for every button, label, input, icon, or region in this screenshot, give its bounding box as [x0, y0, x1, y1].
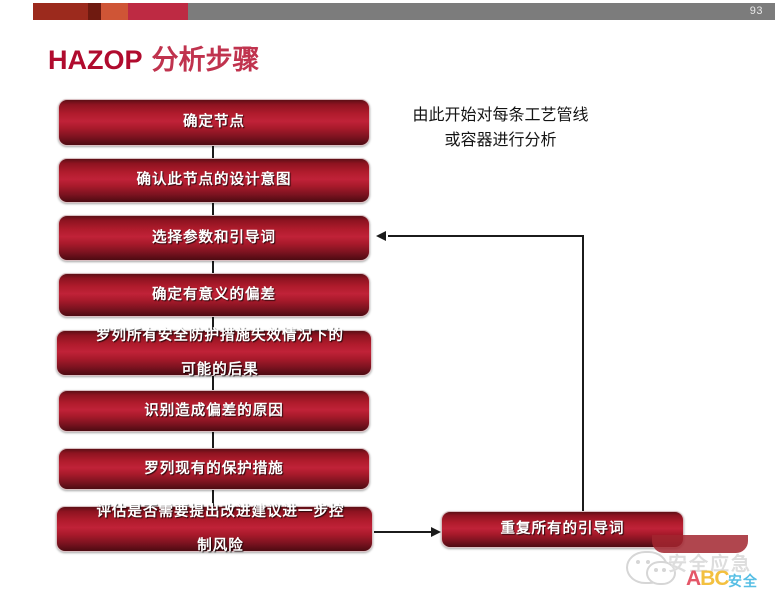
banner-band-2 — [88, 3, 101, 20]
connector-feedback-to-step3 — [388, 235, 584, 237]
watermark-suffix: 安全 — [728, 571, 758, 591]
watermark-letter-b: B — [700, 567, 714, 590]
arrow-into-feedback-icon — [431, 527, 441, 537]
flow-step-8[interactable]: 评估是否需要提出改进建议进一步控 制风险 — [56, 506, 373, 552]
flow-step-5-line-1: 罗列所有安全防护措施失效情况下的 — [63, 328, 377, 345]
flow-step-5[interactable]: 罗列所有安全防护措施失效情况下的 可能的后果 — [56, 330, 372, 376]
flow-step-7-label: 罗列现有的保护措施 — [59, 461, 369, 478]
flow-step-7[interactable]: 罗列现有的保护措施 — [58, 448, 370, 490]
arrow-into-step3-icon — [376, 231, 386, 241]
banner-band-1 — [33, 3, 88, 20]
top-banner: 93 — [0, 3, 775, 20]
wechat-dot-1-icon — [636, 560, 640, 564]
wechat-dot-2-icon — [646, 560, 650, 564]
start-annotation-line-2: 或容器进行分析 — [378, 127, 623, 152]
banner-band-5 — [188, 3, 775, 20]
flow-step-3-label: 选择参数和引导词 — [59, 230, 369, 247]
start-annotation: 由此开始对每条工艺管线 或容器进行分析 — [378, 102, 623, 152]
flow-step-feedback-label: 重复所有的引导词 — [442, 521, 683, 538]
start-annotation-line-1: 由此开始对每条工艺管线 — [378, 102, 623, 127]
slide-canvas: 93 HAZOP分析步骤 由此开始对每条工艺管线 或容器进行分析 确定节点 确认… — [0, 0, 775, 592]
wechat-dot-3-icon — [654, 568, 658, 572]
flow-step-2[interactable]: 确认此节点的设计意图 — [58, 158, 370, 203]
page-title-english: HAZOP — [48, 45, 143, 75]
page-number: 93 — [750, 5, 763, 17]
flow-step-6-label: 识别造成偏差的原因 — [59, 403, 369, 420]
flow-step-3[interactable]: 选择参数和引导词 — [58, 215, 370, 261]
connector-8-feedback — [374, 531, 433, 533]
connector-6-7 — [212, 432, 214, 449]
watermark-letter-c: C — [714, 567, 728, 590]
banner-band-4 — [128, 3, 188, 20]
flow-step-8-line-1: 评估是否需要提出改进建议进一步控 — [63, 504, 378, 521]
flow-step-4[interactable]: 确定有意义的偏差 — [58, 273, 370, 317]
watermark-abc: ABC — [686, 567, 729, 591]
flow-step-8-label: 评估是否需要提出改进建议进一步控 制风险 — [57, 504, 372, 555]
flow-step-1-label: 确定节点 — [59, 114, 369, 131]
page-title-chinese: 分析步骤 — [152, 45, 260, 75]
flow-step-4-label: 确定有意义的偏差 — [59, 287, 369, 304]
flow-step-2-label: 确认此节点的设计意图 — [59, 172, 369, 189]
flow-step-1[interactable]: 确定节点 — [58, 99, 370, 146]
watermark: 安全应急 ABC 安全 — [624, 541, 775, 592]
watermark-letter-a: A — [686, 567, 700, 590]
flow-step-5-line-2: 可能的后果 — [63, 362, 377, 379]
flow-step-5-label: 罗列所有安全防护措施失效情况下的 可能的后果 — [57, 328, 371, 379]
flow-step-8-line-2: 制风险 — [63, 538, 378, 555]
wechat-dot-4-icon — [662, 568, 666, 572]
flow-step-6[interactable]: 识别造成偏差的原因 — [58, 390, 370, 432]
banner-band-3 — [101, 3, 128, 20]
page-title: HAZOP分析步骤 — [48, 38, 260, 77]
connector-feedback-up — [582, 236, 584, 511]
